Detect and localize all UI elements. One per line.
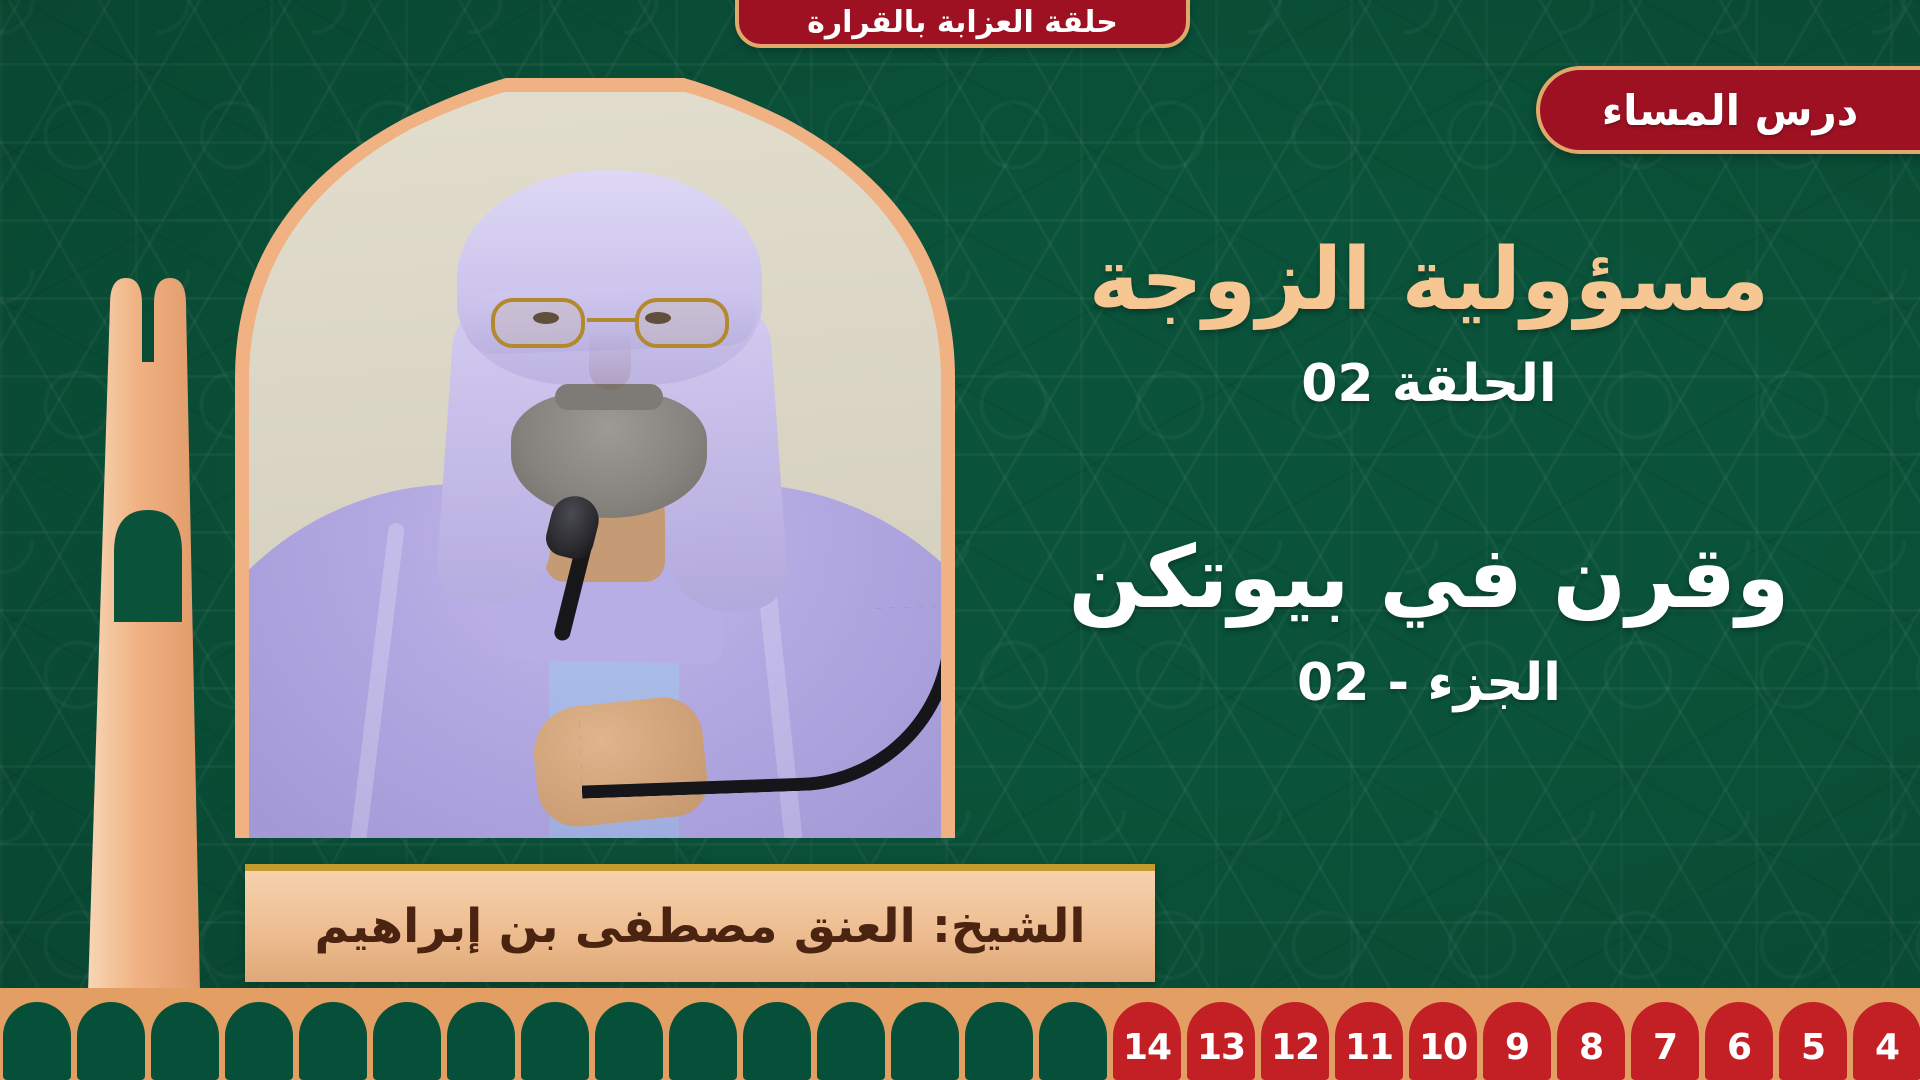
bottom-arch-blank (743, 1002, 811, 1080)
bottom-arch-number[interactable]: 9 (1483, 1002, 1551, 1080)
portrait-arch-inner (249, 92, 941, 838)
speaker-photo (249, 92, 941, 838)
bottom-arch-blank (373, 1002, 441, 1080)
bottom-arch-blank (77, 1002, 145, 1080)
bottom-arch-blank (3, 1002, 71, 1080)
evening-lesson-badge: درس المساء (1536, 66, 1920, 154)
bottom-arch-blank (965, 1002, 1033, 1080)
bottom-arch-blank (299, 1002, 367, 1080)
bottom-arch-number-label: 6 (1727, 1030, 1751, 1066)
minaret-icon (48, 192, 218, 992)
bottom-arch-number[interactable]: 8 (1557, 1002, 1625, 1080)
lesson-main-title: مسؤولية الزوجة (1034, 232, 1824, 328)
bottom-arch-number[interactable]: 12 (1261, 1002, 1329, 1080)
title-card-canvas: حلقة العزابة بالقرارة درس المساء (0, 0, 1920, 1080)
bottom-arch-number[interactable]: 4 (1853, 1002, 1920, 1080)
bottom-arch-blank (151, 1002, 219, 1080)
bottom-arch-number[interactable]: 13 (1187, 1002, 1255, 1080)
bottom-arch-number[interactable]: 5 (1779, 1002, 1847, 1080)
bottom-arch-blank (817, 1002, 885, 1080)
bottom-arch-number-label: 11 (1345, 1030, 1393, 1066)
bottom-arch-number-label: 9 (1505, 1030, 1529, 1066)
bottom-arch-number-label: 4 (1875, 1030, 1899, 1066)
bottom-arch-blank (225, 1002, 293, 1080)
bottom-arch-number-label: 13 (1197, 1030, 1245, 1066)
bottom-arch-number-label: 10 (1419, 1030, 1467, 1066)
bottom-arch-number[interactable]: 14 (1113, 1002, 1181, 1080)
lesson-text-column: مسؤولية الزوجة الحلقة 02 وقرن في بيوتكن … (1034, 232, 1824, 713)
bottom-arch-number-label: 5 (1801, 1030, 1825, 1066)
bottom-arch-blank (1039, 1002, 1107, 1080)
bottom-arch-strip: 1413121110987654321 (0, 988, 1920, 1080)
bottom-arch-blank (521, 1002, 589, 1080)
speaker-portrait (235, 78, 955, 838)
lesson-part-label: الجزء - 02 (1034, 653, 1824, 713)
speaker-nameplate: الشيخ: العنق مصطفى بن إبراهيم (245, 864, 1155, 982)
bottom-arch-blank (595, 1002, 663, 1080)
evening-lesson-badge-label: درس المساء (1602, 86, 1859, 135)
lesson-episode-label: الحلقة 02 (1034, 354, 1824, 414)
bottom-arch-number-label: 12 (1271, 1030, 1319, 1066)
lesson-second-title: وقرن في بيوتكن (1034, 530, 1824, 626)
bottom-arch-number-label: 7 (1653, 1030, 1677, 1066)
bottom-arch-blank (669, 1002, 737, 1080)
bottom-arch-number[interactable]: 6 (1705, 1002, 1773, 1080)
bottom-arch-number-label: 8 (1579, 1030, 1603, 1066)
top-center-banner-label: حلقة العزابة بالقرارة (807, 5, 1118, 40)
bottom-arch-number[interactable]: 10 (1409, 1002, 1477, 1080)
top-center-banner: حلقة العزابة بالقرارة (735, 0, 1190, 48)
speaker-name-label: الشيخ: العنق مصطفى بن إبراهيم (315, 899, 1086, 954)
bottom-arch-number-label: 14 (1123, 1030, 1171, 1066)
bottom-arch-number[interactable]: 7 (1631, 1002, 1699, 1080)
eyeglasses-icon (487, 298, 733, 350)
bottom-arch-number[interactable]: 11 (1335, 1002, 1403, 1080)
bottom-arch-blank (891, 1002, 959, 1080)
bottom-arch-blank (447, 1002, 515, 1080)
